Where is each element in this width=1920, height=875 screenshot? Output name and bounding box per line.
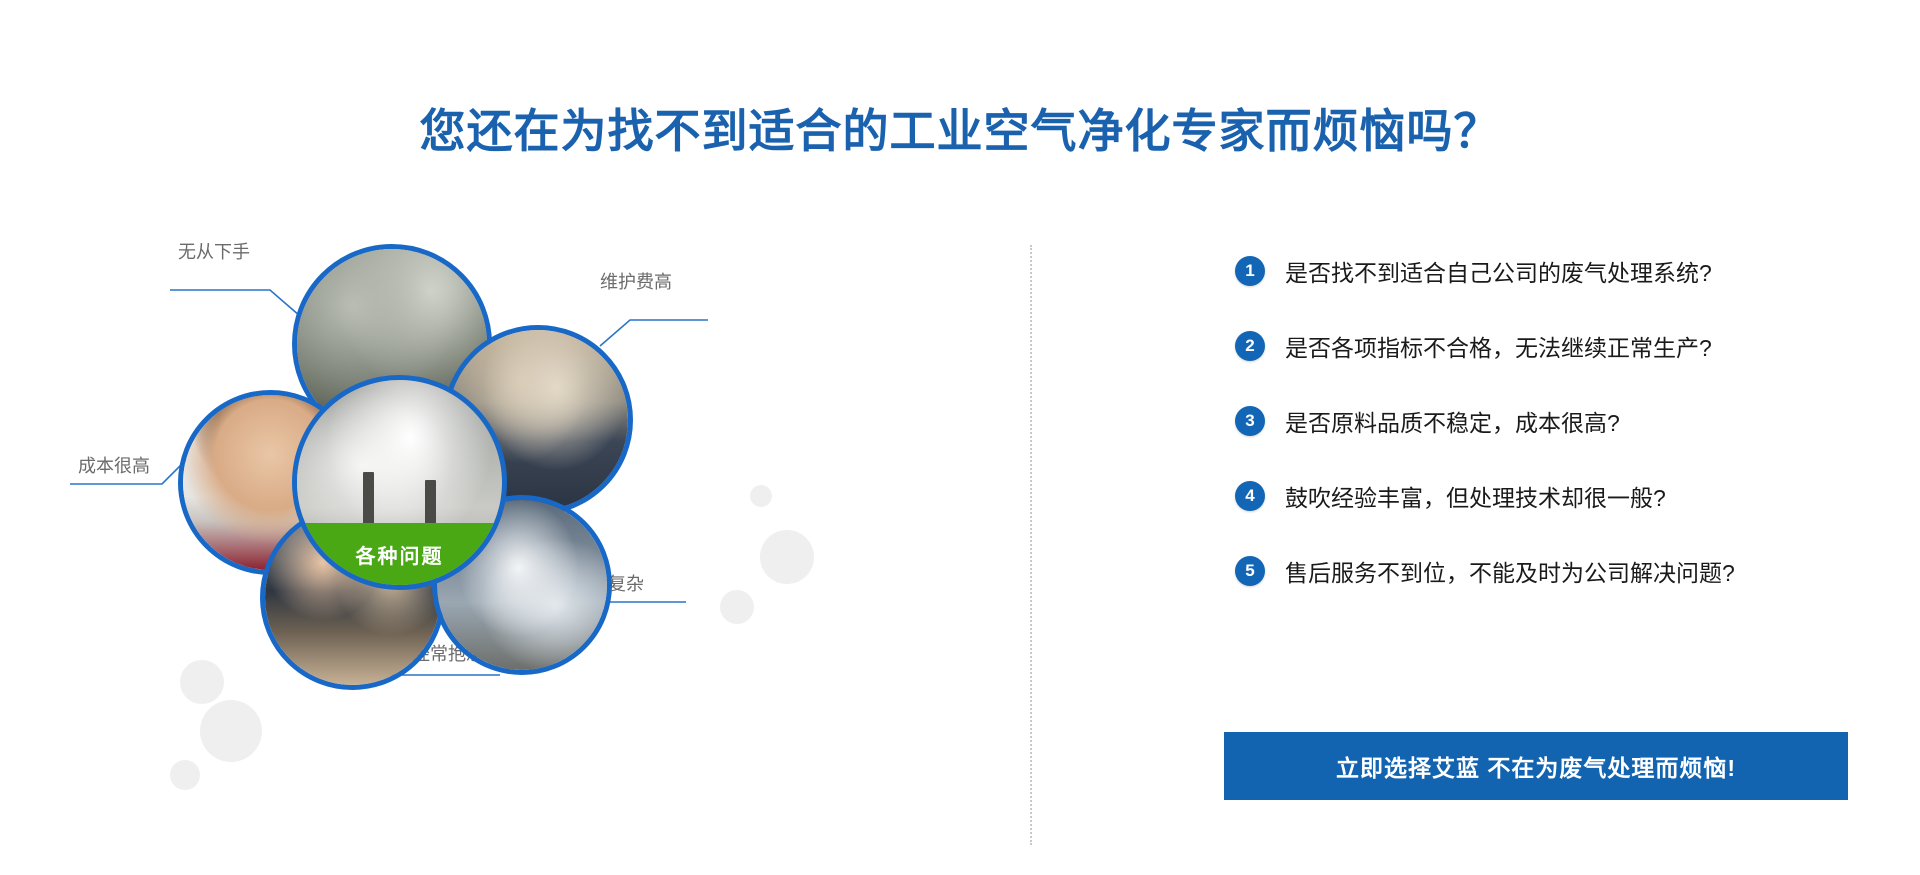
list-item-badge: 1 <box>1235 256 1265 286</box>
decorative-circle <box>720 590 754 624</box>
callout-label-left: 成本很高 <box>78 452 150 478</box>
decorative-circle <box>760 530 814 584</box>
center-label-text: 各种问题 <box>356 540 444 569</box>
list-item: 2 是否各项指标不合格，无法继续正常生产? <box>1235 330 1875 362</box>
problem-list: 1 是否找不到适合自己公司的废气处理系统? 2 是否各项指标不合格，无法继续正常… <box>1235 255 1875 630</box>
photo-bubble-center: 各种问题 <box>292 375 507 590</box>
list-item-text: 是否原料品质不稳定，成本很高? <box>1285 404 1620 438</box>
list-item-badge: 4 <box>1235 481 1265 511</box>
list-item: 4 鼓吹经验丰富，但处理技术却很一般? <box>1235 480 1875 512</box>
list-item-badge: 2 <box>1235 331 1265 361</box>
callout-label-top-right: 维护费高 <box>600 268 672 294</box>
decorative-circle <box>170 760 200 790</box>
list-item-text: 是否找不到适合自己公司的废气处理系统? <box>1285 254 1712 288</box>
decorative-circle <box>180 660 224 704</box>
list-item-badge: 3 <box>1235 406 1265 436</box>
list-item: 1 是否找不到适合自己公司的废气处理系统? <box>1235 255 1875 287</box>
list-item-text: 是否各项指标不合格，无法继续正常生产? <box>1285 329 1712 363</box>
callout-label-top-left: 无从下手 <box>178 238 250 264</box>
cta-button[interactable]: 立即选择艾蓝 不在为废气处理而烦恼! <box>1224 732 1848 800</box>
center-label-band: 各种问题 <box>297 523 502 585</box>
list-item-text: 鼓吹经验丰富，但处理技术却很一般? <box>1285 479 1666 513</box>
promo-banner: 您还在为找不到适合的工业空气净化专家而烦恼吗？ 无从下手 维护费高 <box>0 0 1920 875</box>
page-title: 您还在为找不到适合的工业空气净化专家而烦恼吗？ <box>300 95 1620 161</box>
problem-infographic: 无从下手 维护费高 成本很高 太复杂 经常抱怨 <box>60 230 1000 850</box>
list-item-text: 售后服务不到位，不能及时为公司解决问题? <box>1285 554 1735 588</box>
decorative-circle <box>750 485 772 507</box>
list-item-badge: 5 <box>1235 556 1265 586</box>
vertical-divider <box>1030 245 1032 845</box>
list-item: 5 售后服务不到位，不能及时为公司解决问题? <box>1235 555 1875 587</box>
cta-button-label: 立即选择艾蓝 不在为废气处理而烦恼! <box>1336 749 1736 783</box>
list-item: 3 是否原料品质不稳定，成本很高? <box>1235 405 1875 437</box>
decorative-circle <box>200 700 262 762</box>
